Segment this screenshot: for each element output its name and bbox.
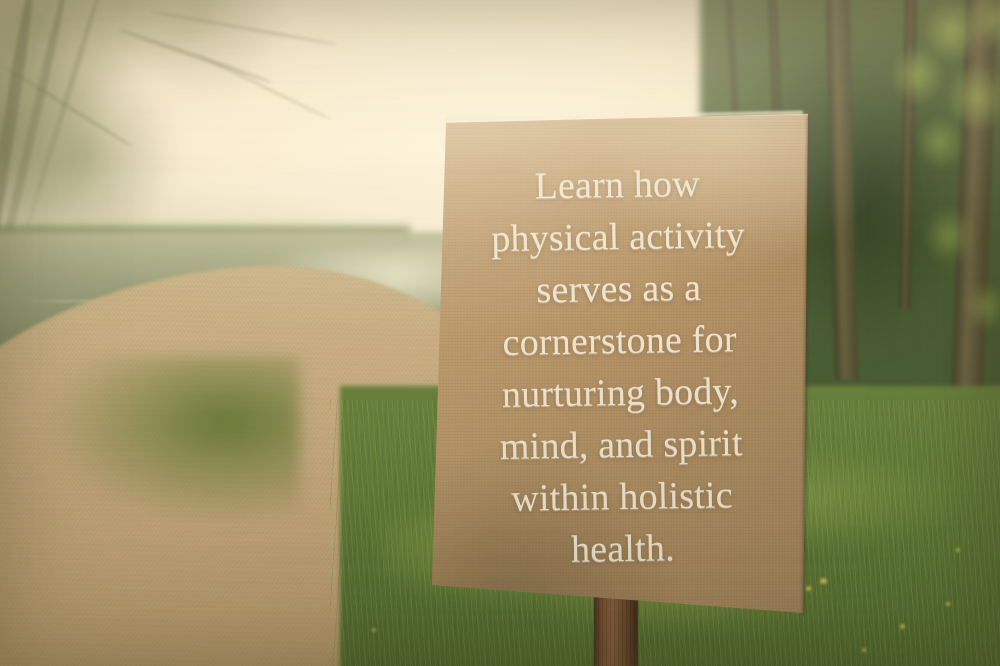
sign-line-1: Learn how: [534, 158, 700, 213]
sign-line-6: mind, and spirit: [499, 417, 743, 473]
sign-message: Learn how physical activity serves as a …: [416, 97, 824, 633]
wildflower: [956, 548, 960, 552]
sign-line-3: serves as a: [536, 262, 701, 317]
wildflower: [862, 648, 866, 652]
sign-line-2: physical activity: [491, 209, 745, 265]
path-left-grass-edge: [0, 356, 300, 656]
sign-line-8: health.: [571, 522, 676, 576]
wildflower: [946, 602, 950, 606]
tree-foliage: [860, 170, 1000, 390]
scene-canvas: Learn how physical activity serves as a …: [0, 0, 1000, 666]
sign-line-4: cornerstone for: [502, 313, 737, 369]
sign-line-5: nurturing body,: [502, 365, 740, 421]
wildflower: [372, 628, 376, 632]
sign-line-7: within holistic: [511, 469, 733, 524]
wildflower: [900, 624, 905, 629]
trail-message-board[interactable]: Learn how physical activity serves as a …: [420, 100, 820, 630]
